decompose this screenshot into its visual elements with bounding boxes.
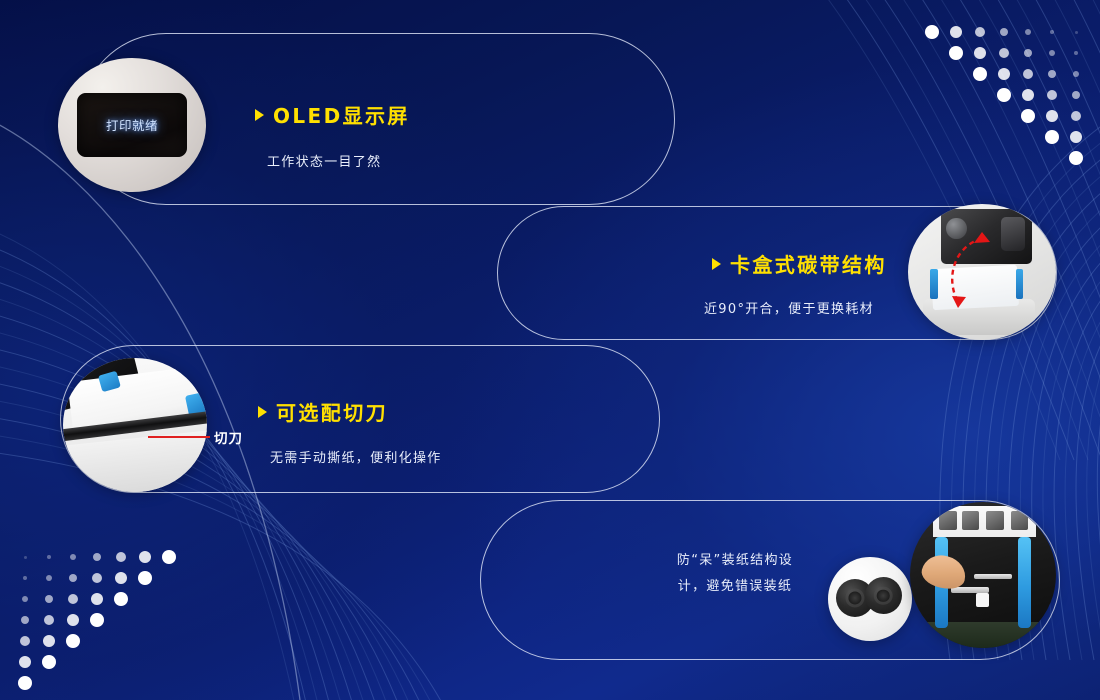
paper-guides-photo — [910, 502, 1056, 648]
cutter-callout: 切刀 — [148, 427, 243, 447]
feature-1-title: OLED显示屏 — [273, 100, 410, 129]
triangle-bullet-icon — [255, 109, 264, 121]
feature-2-subtitle: 近90°开合，便于更换耗材 — [704, 298, 887, 317]
ribbon-cartridge-photo — [908, 204, 1056, 340]
feature-infographic-page: 打印就绪 OLED显示屏 工作状态一目了然 卡盒式碳 — [0, 0, 1100, 700]
cutter-photo — [63, 358, 207, 492]
feature-1-text: OLED显示屏 工作状态一目了然 — [255, 100, 410, 170]
feature-3-title-row: 可选配切刀 — [258, 397, 442, 426]
feature-2-title: 卡盒式碳带结构 — [730, 249, 887, 278]
dot-matrix-top-right — [925, 25, 1095, 195]
feature-1-title-row: OLED显示屏 — [255, 100, 410, 129]
feature-4-subtitle-line1: 防“呆”装纸结构设 — [665, 548, 805, 574]
feature-3-subtitle: 无需手动撕纸，便利化操作 — [270, 447, 442, 466]
feature-4-subtitle-line2: 计，避免错误装纸 — [665, 574, 805, 600]
rotation-arrow-icon — [908, 204, 1056, 340]
feature-2-text: 卡盒式碳带结构 近90°开合，便于更换耗材 — [712, 249, 887, 317]
feature-2-title-row: 卡盒式碳带结构 — [712, 249, 887, 278]
oled-screen: 打印就绪 — [77, 93, 187, 157]
triangle-bullet-icon — [258, 406, 267, 418]
paper-core-discs-photo — [828, 557, 912, 641]
dot-matrix-bottom-left — [18, 550, 188, 690]
oled-status-text: 打印就绪 — [106, 115, 158, 134]
instruction-label — [933, 506, 1035, 537]
callout-leader-line — [148, 436, 210, 438]
feature-4-text: 防“呆”装纸结构设 计，避免错误装纸 — [665, 548, 805, 600]
oled-panel-photo: 打印就绪 — [58, 58, 206, 192]
feature-3-title: 可选配切刀 — [276, 397, 388, 426]
triangle-bullet-icon — [712, 258, 721, 270]
feature-3-text: 可选配切刀 无需手动撕纸，便利化操作 — [258, 397, 442, 466]
cutter-callout-label: 切刀 — [214, 427, 243, 447]
feature-1-subtitle: 工作状态一目了然 — [267, 151, 410, 170]
